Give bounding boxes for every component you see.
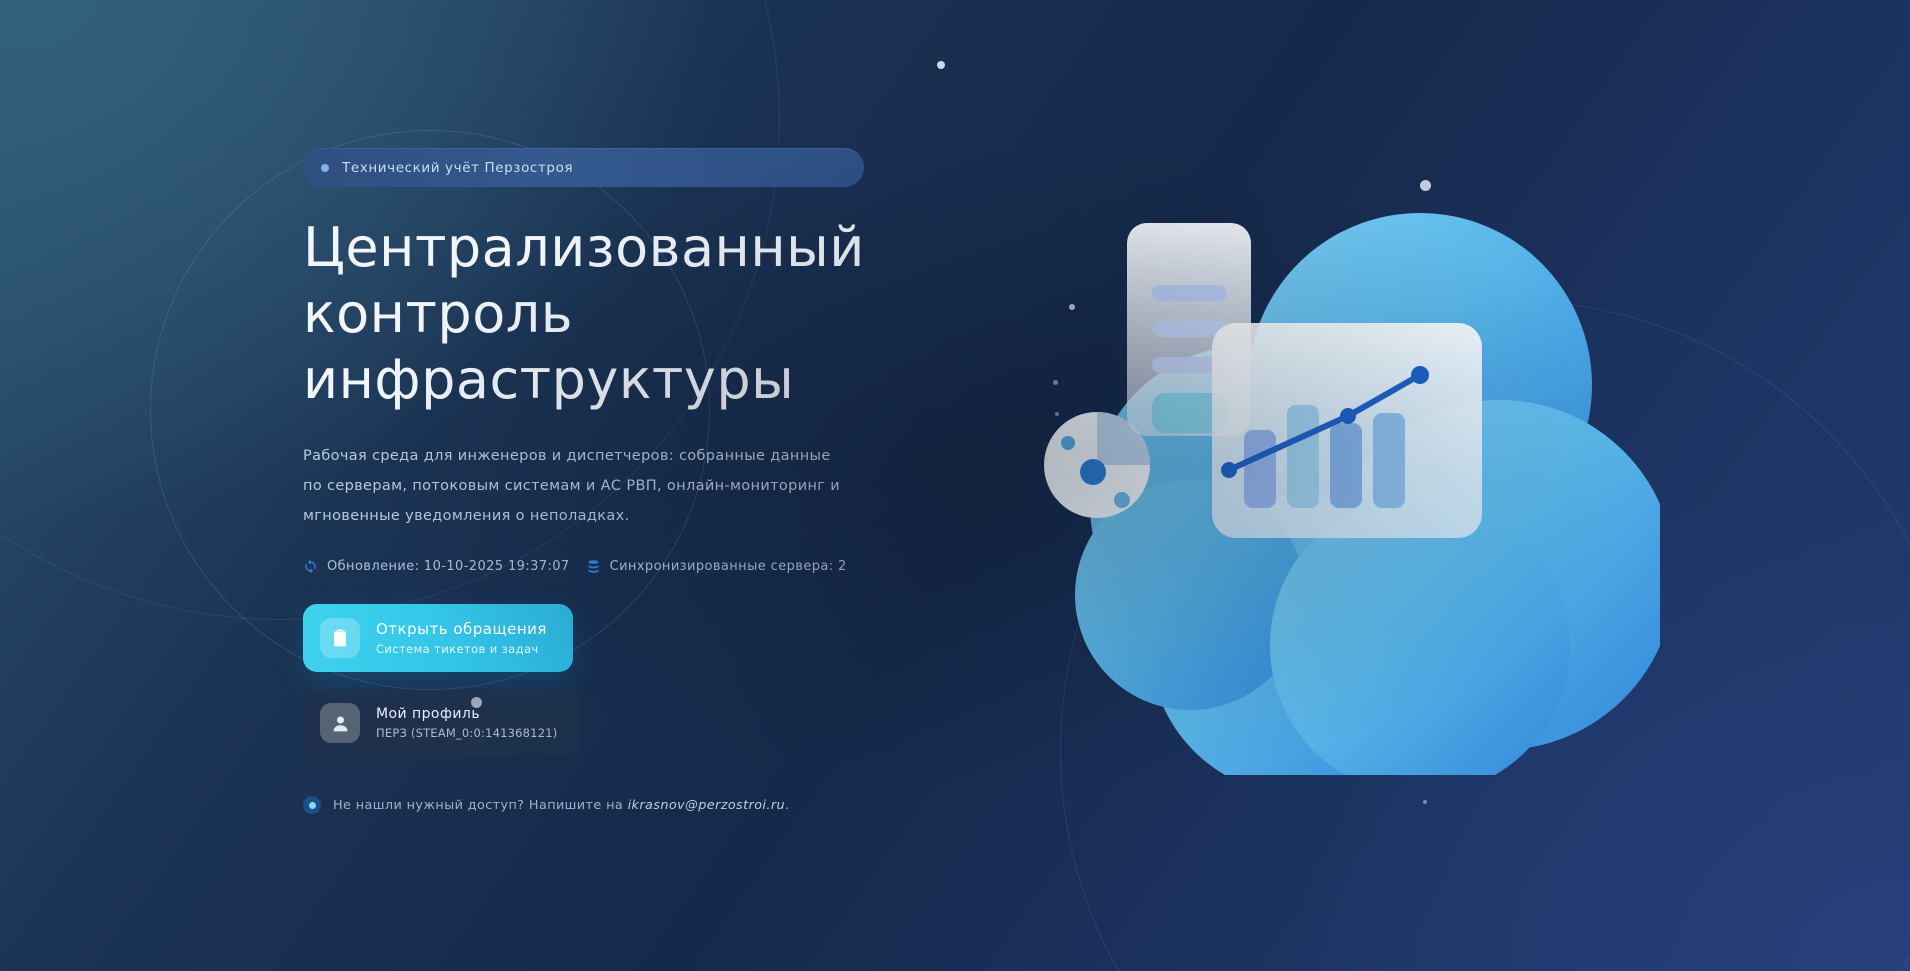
hero-section: Технический учёт Перзостроя Централизова… [303, 148, 923, 814]
clipboard-icon [320, 618, 360, 658]
star-dot [937, 61, 945, 69]
bar-chart-card [1212, 323, 1482, 538]
open-tickets-button[interactable]: Открыть обращения Система тикетов и зада… [303, 604, 573, 672]
meta-servers-text: Синхронизированные сервера: 2 [610, 559, 847, 574]
page-background: Технический учёт Перзостроя Централизова… [0, 0, 1910, 971]
footnote-text-before: Не нашли нужный доступ? Напишите на [333, 798, 628, 813]
open-tickets-subtitle: Система тикетов и задач [376, 641, 547, 657]
open-tickets-title: Открыть обращения [376, 620, 547, 639]
badge-label: Технический учёт Перзостроя [342, 160, 573, 176]
footnote-text: Не нашли нужный доступ? Напишите на ikra… [333, 798, 789, 813]
support-email-link[interactable]: ikrasnov@perzostroi.ru [628, 798, 785, 813]
page-title: Централизованный контроль инфраструктуры [303, 215, 823, 413]
badge-dot-icon [321, 164, 329, 172]
status-badge: Технический учёт Перзостроя [303, 148, 864, 187]
meta-update-text: Обновление: 10-10-2025 19:37:07 [327, 559, 570, 574]
status-badge [471, 697, 482, 708]
refresh-icon [303, 559, 318, 574]
profile-text-group: Мой профиль ПЕРЗ (STEAM_0:0:141368121) [376, 705, 557, 741]
open-tickets-text-group: Открыть обращения Система тикетов и зада… [376, 620, 547, 657]
profile-subtitle: ПЕРЗ (STEAM_0:0:141368121) [376, 725, 557, 741]
database-icon [586, 559, 601, 574]
profile-card[interactable]: Мой профиль ПЕРЗ (STEAM_0:0:141368121) [303, 690, 580, 756]
avatar [320, 703, 360, 743]
meta-update: Обновление: 10-10-2025 19:37:07 [303, 559, 570, 574]
profile-title: Мой профиль [376, 705, 557, 723]
info-dot-icon [303, 796, 321, 814]
footnote: Не нашли нужный доступ? Напишите на ikra… [303, 796, 923, 814]
star-dot [1423, 800, 1427, 804]
meta-row: Обновление: 10-10-2025 19:37:07 Синхрони… [303, 559, 923, 574]
meta-servers: Синхронизированные сервера: 2 [586, 559, 847, 574]
analytics-cloud-illustration [1000, 175, 1660, 775]
footnote-text-after: . [785, 798, 789, 813]
hero-description: Рабочая среда для инженеров и диспетчеро… [303, 441, 851, 531]
